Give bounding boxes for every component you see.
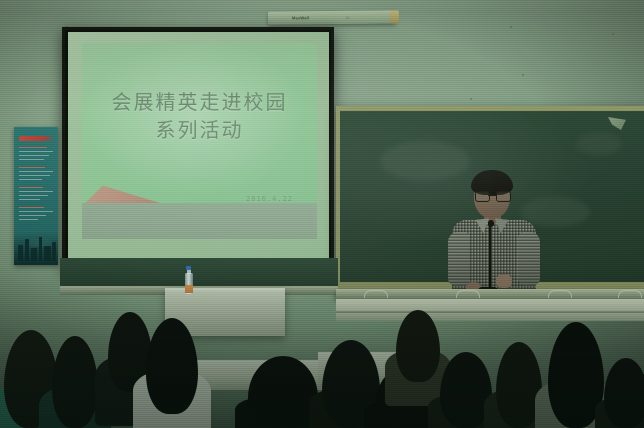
bottle-cap — [186, 266, 191, 270]
tray-handle[interactable] — [618, 290, 642, 298]
tray-handle[interactable] — [364, 290, 388, 298]
slide-title: 会展精英走进校园 系列活动 — [82, 89, 317, 144]
roller-brand-label: MaxWall — [292, 15, 309, 20]
poster-header-bar — [19, 136, 54, 141]
poster-text-line — [19, 175, 50, 176]
wall-poster — [14, 127, 58, 265]
poster-building — [39, 237, 42, 261]
poster-text-line — [19, 191, 53, 192]
ledge-seam — [336, 311, 644, 313]
poster-text-line — [19, 179, 42, 180]
poster-building — [44, 246, 51, 261]
poster-text-line — [19, 151, 53, 152]
poster-text-line — [19, 167, 45, 168]
projector-screen-roller[interactable]: MaxWall R2 — [268, 10, 396, 24]
tray-handle[interactable] — [548, 290, 572, 298]
slide-date: 2016.4.22 — [246, 195, 293, 203]
water-bottle — [184, 266, 193, 294]
tray-handle[interactable] — [456, 290, 480, 298]
slide-title-line-1: 会展精英走进校园 — [112, 90, 288, 114]
presenter-arm-right — [518, 232, 540, 286]
poster-building — [25, 239, 29, 261]
student-far-right-head — [604, 358, 644, 428]
bottle-neck — [187, 270, 191, 274]
glasses-lens-right — [496, 191, 511, 202]
glasses-lens-left — [475, 191, 490, 202]
wall-mark — [510, 26, 512, 28]
poster-building — [31, 248, 37, 261]
microphone-cable — [489, 226, 491, 288]
poster-text-line — [19, 215, 46, 216]
screen-surface: 会展精英走进校园 系列活动 2016.4.22 — [68, 32, 329, 264]
poster-text-line — [19, 147, 47, 148]
presenter-arm-left — [448, 232, 470, 286]
blackboard-chip — [608, 117, 626, 130]
roller-end-cap — [390, 10, 399, 23]
roller-model-label: R2 — [346, 16, 350, 20]
blackboard-left-section — [60, 258, 338, 288]
projection-screen[interactable]: 会展精英走进校园 系列活动 2016.4.22 — [62, 27, 334, 270]
wall-mark — [522, 74, 524, 76]
poster-cityscape — [14, 231, 58, 265]
chalk-smudge — [576, 133, 622, 155]
presenter-hand-right — [496, 274, 512, 288]
wall-mark — [612, 33, 614, 35]
glasses-icon — [475, 191, 509, 200]
glasses-bridge — [488, 195, 496, 196]
poster-text-line — [19, 195, 48, 196]
bottle-label — [185, 285, 193, 293]
wall-mark — [470, 98, 472, 100]
poster-text-line — [19, 211, 53, 212]
podium-top-surface — [165, 288, 285, 293]
board-ledge — [336, 299, 644, 321]
poster-text-line — [19, 171, 53, 172]
poster-building — [52, 242, 56, 261]
slide-bottom-band — [82, 203, 317, 239]
poster-text-line — [19, 219, 38, 220]
projected-slide: 会展精英走进校园 系列活动 2016.4.22 — [82, 43, 317, 239]
classroom-photo: MaxWall R2 会展精英走进校园 系列活动 2016.4.22 — [0, 0, 644, 428]
poster-text-line — [19, 187, 43, 188]
poster-text-line — [19, 199, 40, 200]
slide-title-line-2: 系列活动 — [82, 117, 317, 145]
poster-text-line — [19, 159, 44, 160]
poster-text-line — [19, 155, 49, 156]
poster-text-line — [19, 207, 44, 208]
poster-building — [18, 245, 23, 261]
